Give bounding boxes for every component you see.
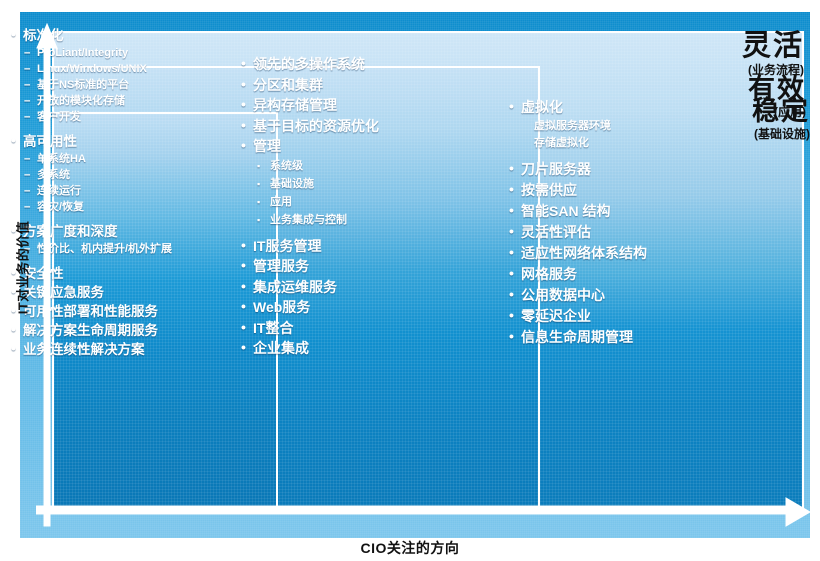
list-item: 集成运维服务 — [240, 277, 490, 298]
list-item: 零延迟企业 — [508, 306, 748, 327]
panel-agile-list: 虚拟化虚拟服务器环境存储虚拟化刀片服务器按需供应智能SAN 结构灵活性评估适应性… — [508, 97, 748, 348]
list-item: 公用数据中心 — [508, 285, 748, 306]
list-item: 刀片服务器 — [508, 159, 748, 180]
panel-agile-heading: 灵活 (业务流程) — [742, 32, 804, 76]
list-item: 适应性网络体系结构 — [508, 243, 748, 264]
list-item: 基础设施 — [240, 175, 490, 193]
list-item: 业务集成与控制 — [240, 211, 490, 229]
panel-stable-subtitle: (基础设施) — [752, 128, 810, 140]
list-item: 智能SAN 结构 — [508, 201, 748, 222]
list-item: 按需供应 — [508, 180, 748, 201]
arrow-right-icon — [36, 495, 812, 529]
y-axis-title: IT对业务的价值 — [13, 198, 32, 338]
panel-agile-title: 灵活 — [742, 32, 804, 61]
arrow-up-icon — [36, 22, 58, 528]
list-item: 信息生命周期管理 — [508, 327, 748, 348]
list-item: 管理 — [240, 136, 490, 157]
list-item: 灵活性评估 — [508, 222, 748, 243]
list-item: 网格服务 — [508, 264, 748, 285]
list-item: 领先的多操作系统 — [240, 54, 490, 75]
list-item: 存储虚拟化 — [508, 135, 748, 152]
panel-stable-heading: 稳定 (基础设施) — [752, 98, 810, 140]
list-item: 企业集成 — [240, 338, 490, 359]
list-item: 系统级 — [240, 157, 490, 175]
list-item: 应用 — [240, 193, 490, 211]
chart-canvas: 灵活 (业务流程) 有效 (应用) 稳定 (基础设施) 标准化ProLiant/… — [0, 0, 820, 561]
panel-stable-title: 稳定 — [752, 98, 810, 125]
panel-effective-list: 领先的多操作系统分区和集群异构存储管理基于目标的资源优化管理系统级基础设施应用业… — [240, 54, 490, 359]
list-item: 虚拟化 — [508, 97, 748, 118]
list-item: Web服务 — [240, 297, 490, 318]
list-item: 管理服务 — [240, 256, 490, 277]
list-item: 异构存储管理 — [240, 95, 490, 116]
list-item: IT整合 — [240, 318, 490, 339]
list-item: 虚拟服务器环境 — [508, 118, 748, 135]
list-item: IT服务管理 — [240, 236, 490, 257]
x-axis-title: CIO关注的方向 — [0, 538, 820, 558]
list-item: 分区和集群 — [240, 75, 490, 96]
list-item: 基于目标的资源优化 — [240, 116, 490, 137]
